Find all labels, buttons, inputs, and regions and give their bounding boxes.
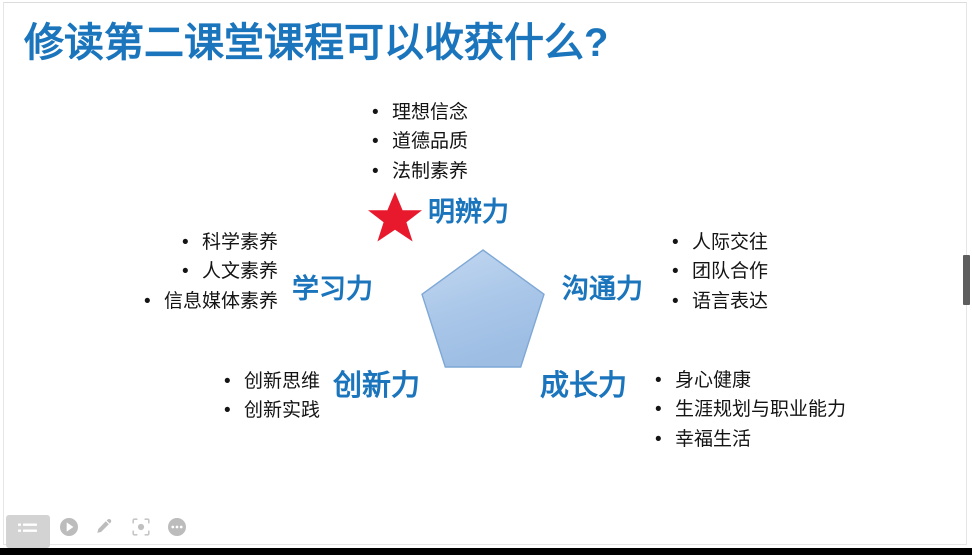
next-slide-icon xyxy=(59,517,79,537)
bullet-marker: • xyxy=(655,366,675,395)
page-title: 修读第二课堂课程可以收获什么? xyxy=(24,20,608,66)
bullet-marker: • xyxy=(372,157,392,186)
laser-pointer-button[interactable] xyxy=(130,516,152,538)
list-item: • 人际交往 xyxy=(672,228,768,257)
list-item: • 生涯规划与职业能力 xyxy=(655,395,846,424)
laser-pointer-icon xyxy=(131,517,151,537)
list-item: • 创新思维 xyxy=(175,367,320,396)
bullet-marker: • xyxy=(144,287,164,316)
list-item-label: 科学素养 xyxy=(202,228,278,257)
bullet-marker: • xyxy=(672,228,692,257)
pen-icon xyxy=(95,517,115,537)
list-item-label: 法制素养 xyxy=(392,157,468,186)
bullet-marker: • xyxy=(182,228,202,257)
bullet-marker: • xyxy=(672,287,692,316)
list-item-label: 生涯规划与职业能力 xyxy=(675,395,846,424)
list-item-label: 创新思维 xyxy=(244,367,320,396)
list-item: • 创新实践 xyxy=(175,396,320,425)
list-item: • 法制素养 xyxy=(372,157,468,186)
list-item-label: 人文素养 xyxy=(202,257,278,286)
node-label-bottom-right: 成长力 xyxy=(540,372,627,401)
slide-list-icon xyxy=(17,521,39,542)
scrollbar-thumb[interactable] xyxy=(963,255,970,305)
bottom-letterbox-bar xyxy=(0,548,972,555)
more-options-icon xyxy=(167,517,187,537)
list-item: • 信息媒体素养 xyxy=(38,287,278,316)
bullet-list-left: • 科学素养 • 人文素养 • 信息媒体素养 xyxy=(38,228,278,316)
node-label-right: 沟通力 xyxy=(562,276,643,303)
list-item: • 理想信念 xyxy=(372,98,468,127)
list-item: • 科学素养 xyxy=(38,228,278,257)
bullet-marker: • xyxy=(224,367,244,396)
pentagon-shape xyxy=(420,248,546,370)
list-item-label: 语言表达 xyxy=(692,287,768,316)
bullet-marker: • xyxy=(182,257,202,286)
list-item-label: 人际交往 xyxy=(692,228,768,257)
bullet-list-bottom-right: • 身心健康 • 生涯规划与职业能力 • 幸福生活 xyxy=(655,366,846,454)
list-item: • 身心健康 xyxy=(655,366,846,395)
pen-tool-button[interactable] xyxy=(94,516,116,538)
bullet-list-right: • 人际交往 • 团队合作 • 语言表达 xyxy=(672,228,768,316)
bullet-marker: • xyxy=(224,396,244,425)
slide-list-button[interactable] xyxy=(6,515,50,548)
list-item: • 人文素养 xyxy=(38,257,278,286)
presentation-slide: 修读第二课堂课程可以收获什么? • 理想信念 • 道德品质 • 法制素养 明辨力… xyxy=(0,0,972,555)
bullet-marker: • xyxy=(372,98,392,127)
list-item-label: 幸福生活 xyxy=(675,425,751,454)
bullet-list-bottom-left: • 创新思维 • 创新实践 xyxy=(175,367,320,426)
vertical-scrollbar[interactable] xyxy=(963,0,972,548)
list-item-label: 道德品质 xyxy=(392,127,468,156)
next-slide-button[interactable] xyxy=(58,516,80,538)
list-item: • 团队合作 xyxy=(672,257,768,286)
list-item-label: 创新实践 xyxy=(244,396,320,425)
node-label-left: 学习力 xyxy=(292,276,373,303)
bullet-marker: • xyxy=(655,395,675,424)
list-item-label: 身心健康 xyxy=(675,366,751,395)
node-label-top: 明辨力 xyxy=(428,199,509,226)
list-item: • 语言表达 xyxy=(672,287,768,316)
node-label-bottom-left: 创新力 xyxy=(333,372,420,401)
more-options-button[interactable] xyxy=(166,516,188,538)
list-item: • 幸福生活 xyxy=(655,425,846,454)
list-item-label: 团队合作 xyxy=(692,257,768,286)
star-icon xyxy=(367,191,423,243)
bullet-marker: • xyxy=(672,257,692,286)
bullet-marker: • xyxy=(372,127,392,156)
list-item-label: 理想信念 xyxy=(392,98,468,127)
bullet-marker: • xyxy=(655,425,675,454)
list-item: • 道德品质 xyxy=(372,127,468,156)
list-item-label: 信息媒体素养 xyxy=(164,287,278,316)
bullet-list-top: • 理想信念 • 道德品质 • 法制素养 xyxy=(372,98,468,186)
